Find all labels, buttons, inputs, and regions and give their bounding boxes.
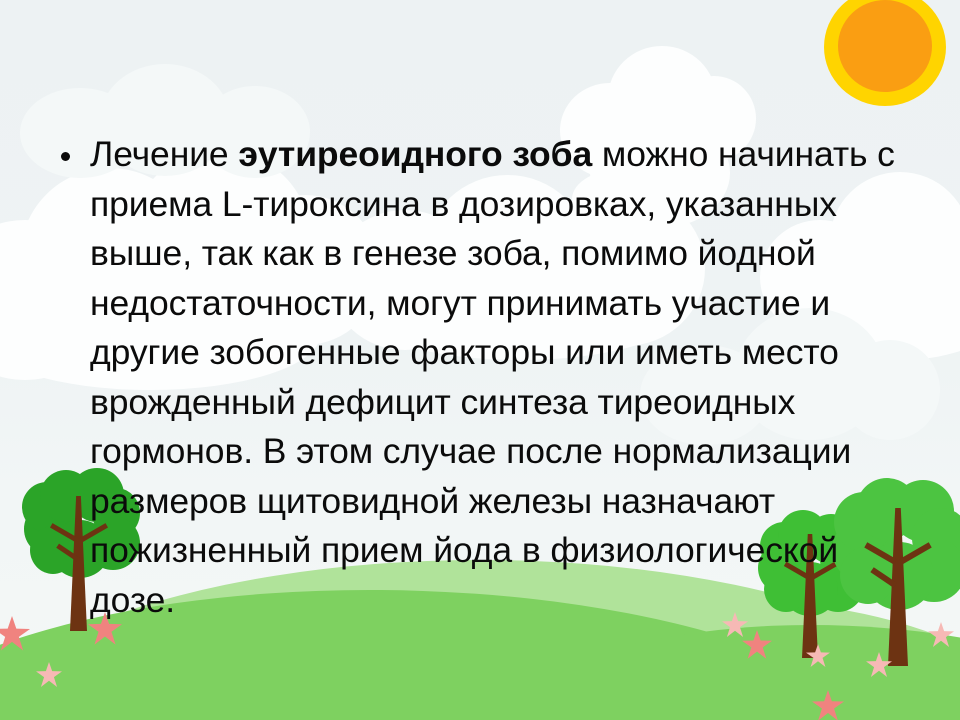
sun-core [838,0,932,92]
paragraph-lead: Лечение [90,134,238,174]
sun-icon [816,0,960,132]
slide-canvas: Лечение эутиреоидного зоба можно начинат… [0,0,960,720]
paragraph-text: Лечение эутиреоидного зоба можно начинат… [90,130,932,625]
slide-body-text: Лечение эутиреоидного зоба можно начинат… [52,130,932,625]
bullet-list-item: Лечение эутиреоидного зоба можно начинат… [52,130,932,625]
bullet-point-icon [61,152,70,161]
paragraph-emphasis: эутиреоидного зоба [238,134,592,174]
paragraph-rest: можно начинать с приема L-тироксина в до… [90,134,895,620]
ground-fill [0,690,960,720]
